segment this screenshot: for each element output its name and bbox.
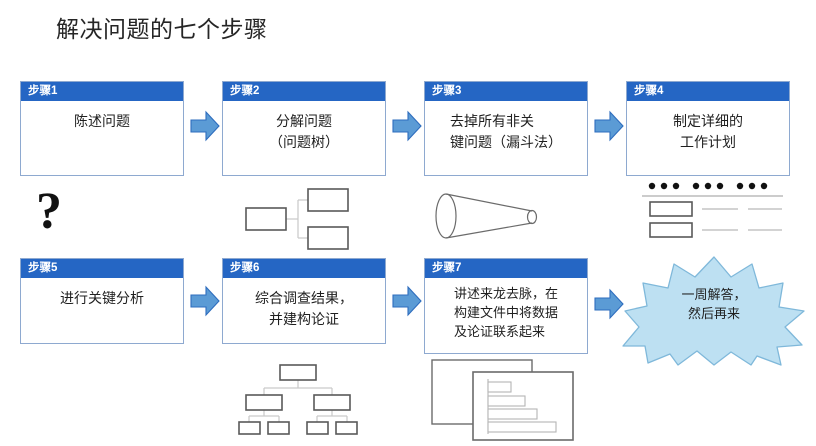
arrow-step7-to-outcome: [594, 288, 624, 320]
step-3-body: 去掉所有非关 键问题（漏斗法）: [425, 101, 587, 175]
step-1-body: 陈述问题: [21, 101, 183, 175]
step-6-header: 步骤6: [223, 259, 385, 278]
step-2-text: 分解问题 （问题树）: [269, 111, 339, 153]
document-barchart-icon: [430, 358, 605, 444]
step-5-text: 进行关键分析: [60, 288, 144, 309]
issue-tree-icon: [240, 188, 350, 250]
step-2-header: 步骤2: [223, 82, 385, 101]
step-card-3[interactable]: 步骤3 去掉所有非关 键问题（漏斗法）: [424, 81, 588, 176]
arrow-step2-to-step3: [392, 110, 422, 142]
outcome-starburst[interactable]: 一周解答， 然后再来: [621, 255, 807, 367]
page-title: 解决问题的七个步骤: [56, 14, 268, 44]
step-6-text: 综合调查结果， 并建构论证: [255, 288, 353, 330]
step-1-text: 陈述问题: [74, 111, 130, 132]
step-6-body: 综合调查结果， 并建构论证: [223, 278, 385, 343]
step-card-7[interactable]: 步骤7 讲述来龙去脉，在 构建文件中将数据 及论证联系起来: [424, 258, 588, 354]
outcome-label: 一周解答， 然后再来: [621, 285, 807, 323]
arrow-step6-to-step7: [392, 285, 422, 317]
step-card-6[interactable]: 步骤6 综合调查结果， 并建构论证: [222, 258, 386, 344]
step-3-text: 去掉所有非关 键问题（漏斗法）: [450, 111, 562, 153]
step-card-5[interactable]: 步骤5 进行关键分析: [20, 258, 184, 344]
step-4-header: 步骤4: [627, 82, 789, 101]
step-card-4[interactable]: 步骤4 制定详细的 工作计划: [626, 81, 790, 176]
step-card-2[interactable]: 步骤2 分解问题 （问题树）: [222, 81, 386, 176]
step-7-body: 讲述来龙去脉，在 构建文件中将数据 及论证联系起来: [425, 278, 587, 353]
step-5-body: 进行关键分析: [21, 278, 183, 343]
step-4-text: 制定详细的 工作计划: [673, 111, 743, 153]
slide-canvas: 解决问题的七个步骤 步骤1 陈述问题 ? 步骤2 分解问题 （问题树）: [0, 0, 816, 446]
step-1-header: 步骤1: [21, 82, 183, 101]
step-2-body: 分解问题 （问题树）: [223, 101, 385, 175]
arrow-step5-to-step6: [190, 285, 220, 317]
funnel-cone-icon: [420, 186, 560, 246]
step-4-body: 制定详细的 工作计划: [627, 101, 789, 175]
step-7-text: 讲述来龙去脉，在 构建文件中将数据 及论证联系起来: [454, 284, 558, 341]
step-7-header: 步骤7: [425, 259, 587, 278]
org-chart-icon: [238, 362, 358, 442]
step-5-header: 步骤5: [21, 259, 183, 278]
gantt-workplan-icon: [640, 180, 785, 242]
arrow-step3-to-step4: [594, 110, 624, 142]
arrow-step1-to-step2: [190, 110, 220, 142]
step-3-header: 步骤3: [425, 82, 587, 101]
step-card-1[interactable]: 步骤1 陈述问题: [20, 81, 184, 176]
question-mark-icon: ?: [36, 186, 62, 238]
